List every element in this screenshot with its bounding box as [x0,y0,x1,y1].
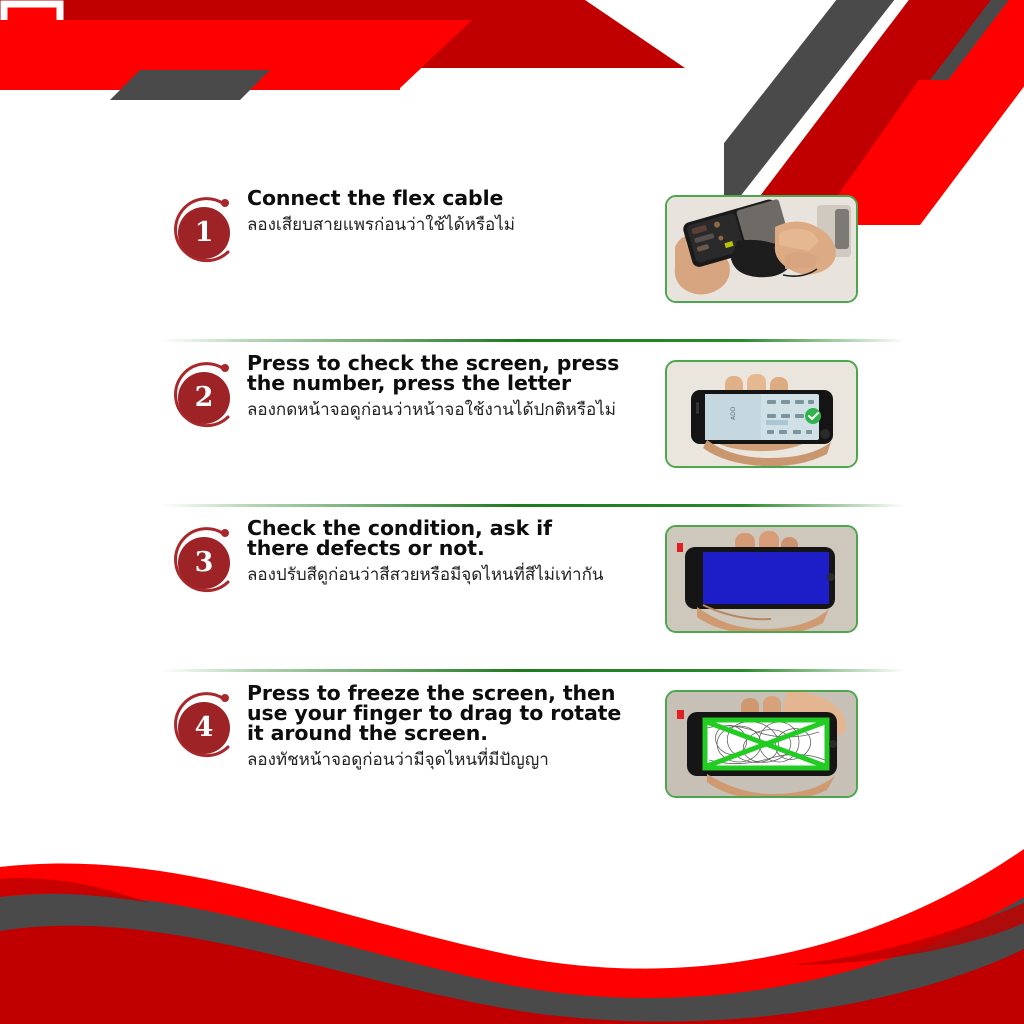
step-number: 2 [178,372,230,424]
step-subtitle-thai: ลองกดหน้าจอดูก่อนว่าหน้าจอใช้งานได้ปกติห… [247,398,647,422]
step-badge-1: 1 [166,194,240,270]
step-photo-3 [665,525,858,633]
step-badge-2: 2 [166,359,240,435]
step-photo-1 [665,195,858,303]
bottom-wave-decoration [0,839,1024,1024]
step-badge-3: 3 [166,524,240,600]
step-divider [160,669,905,672]
step-divider [160,339,905,342]
step-title: Press to freeze the screen, then use you… [247,683,647,743]
step-number: 1 [178,207,230,259]
step-text-block: Connect the flex cable ลองเสียบสายแพรก่อ… [247,188,647,237]
step-title: Check the condition, ask if there defect… [247,518,647,558]
step-text-block: Press to freeze the screen, then use you… [247,683,647,772]
step-number: 4 [178,702,230,754]
step-subtitle-thai: ลองปรับสีดูก่อนว่าสีสวยหรือมีจุดไหนที่สี… [247,563,647,587]
svg-text:ADD: ADD [730,406,737,420]
step-title: Connect the flex cable [247,188,647,208]
step-row: 2 Press to check the screen, press the n… [0,345,1024,510]
step-number: 3 [178,537,230,589]
step-row: 1 Connect the flex cable ลองเสียบสายแพรก… [0,180,1024,345]
steps-list: 1 Connect the flex cable ลองเสียบสายแพรก… [0,180,1024,840]
step-photo-2: ADD [665,360,858,468]
photo-scene-dialer-test: ADD [667,362,856,466]
step-photo-4 [665,690,858,798]
photo-scene-flex-cable [667,197,856,301]
step-divider [160,504,905,507]
step-text-block: Check the condition, ask if there defect… [247,518,647,587]
poster-canvas: 1 Connect the flex cable ลองเสียบสายแพรก… [0,0,1024,1024]
step-row: 3 Check the condition, ask if there defe… [0,510,1024,675]
step-row: 4 Press to freeze the screen, then use y… [0,675,1024,840]
step-text-block: Press to check the screen, press the num… [247,353,647,422]
step-subtitle-thai: ลองเสียบสายแพรก่อนว่าใช้ได้หรือไม่ [247,213,647,237]
step-subtitle-thai: ลองทัชหน้าจอดูก่อนว่ามีจุดไหนที่มีปัญญา [247,748,647,772]
step-title: Press to check the screen, press the num… [247,353,647,393]
step-badge-4: 4 [166,689,240,765]
photo-scene-touch-test [667,692,856,796]
photo-scene-blue-screen [667,527,856,631]
